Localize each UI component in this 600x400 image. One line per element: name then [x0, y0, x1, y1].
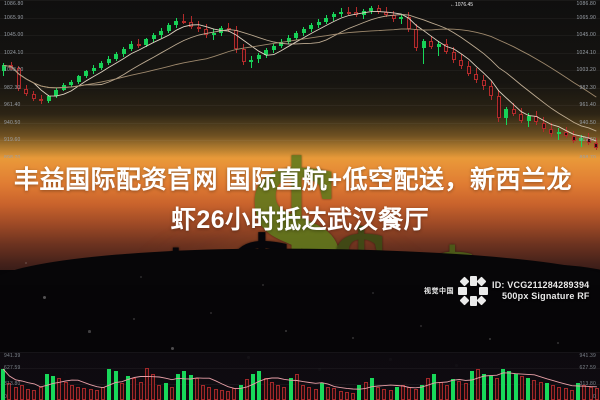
price-tick-label: 1065.90 [577, 15, 596, 21]
price-tick-label: 898.70 [580, 155, 597, 158]
dust-speck [210, 312, 212, 314]
volume-tick-label: 0 [593, 394, 596, 400]
volume-tick-label: 0 [4, 394, 7, 400]
moving-average-line [4, 15, 597, 132]
volume-tick-label: 941.39 [580, 353, 597, 359]
price-tick-label: 1024.10 [4, 50, 23, 56]
dust-speck [372, 292, 374, 294]
price-tick-label: 919.60 [580, 137, 597, 143]
price-tick-label: 1045.00 [4, 32, 23, 38]
watermark: 视觉中国 ID: VCG211284289394 500px Signature… [424, 276, 590, 306]
price-tick-label: 1065.90 [4, 15, 23, 21]
dust-speck [420, 325, 422, 327]
volume-chart-panel: 941.39627.59313.800 941.39627.59313.800 [0, 352, 600, 400]
volume-tick-label: 627.59 [580, 365, 597, 371]
price-tick-label: 1024.10 [577, 50, 596, 56]
price-tick-label: 1086.80 [577, 1, 596, 7]
article-banner-image: $ $ $ $ $ $ $ $ $ $ $ $ 1086.801065.9010… [0, 0, 600, 400]
volume-tick-label: 313.80 [4, 381, 21, 387]
price-tick-label: 1003.20 [4, 67, 23, 73]
headline: 丰益国际配资官网 国际直航+低空配送，新西兰龙 虾26小时抵达武汉餐厅 [0, 160, 600, 240]
moving-average-lines [0, 0, 600, 158]
dust-speck [25, 262, 27, 264]
price-tick-label: 961.40 [580, 102, 597, 108]
volume-moving-average [3, 369, 597, 389]
price-chart-panel: 1086.801065.901045.001024.101003.20982.3… [0, 0, 600, 158]
price-tick-label: 919.60 [4, 137, 21, 143]
price-tick-label: 940.50 [580, 120, 597, 126]
dust-speck [88, 330, 91, 333]
headline-line-2: 虾26小时抵达武汉餐厅 [14, 200, 586, 240]
watermark-text: ID: VCG211284289394 500px Signature RF [492, 280, 590, 302]
price-tick-label: 1003.20 [577, 67, 596, 73]
dust-speck [140, 276, 142, 278]
vcg-logo-icon [458, 276, 488, 306]
headline-line-1: 丰益国际配资官网 国际直航+低空配送，新西兰龙 [14, 166, 572, 194]
moving-average-line [4, 29, 597, 97]
watermark-brand-cn: 视觉中国 [424, 286, 454, 296]
dust-speck [262, 284, 264, 286]
watermark-id: ID: VCG211284289394 [492, 280, 590, 291]
price-tick-label: 982.30 [4, 85, 21, 91]
price-tick-label: 940.50 [4, 120, 21, 126]
price-tick-label: 1086.80 [4, 1, 23, 7]
volume-tick-label: 313.80 [580, 381, 597, 387]
moving-average-line [4, 12, 597, 142]
price-tick-label: 898.70 [4, 155, 21, 158]
volume-tick-label: 627.59 [4, 365, 21, 371]
dust-speck [171, 347, 174, 350]
watermark-signature: 500px Signature RF [492, 291, 590, 302]
volume-tick-label: 941.39 [4, 353, 21, 359]
price-tick-label: 1045.00 [577, 32, 596, 38]
volume-moving-average-line [0, 352, 600, 400]
price-tick-label: 961.40 [4, 102, 21, 108]
price-tick-label: 982.30 [580, 85, 597, 91]
price-annotation: ←1076.45 [450, 2, 473, 8]
